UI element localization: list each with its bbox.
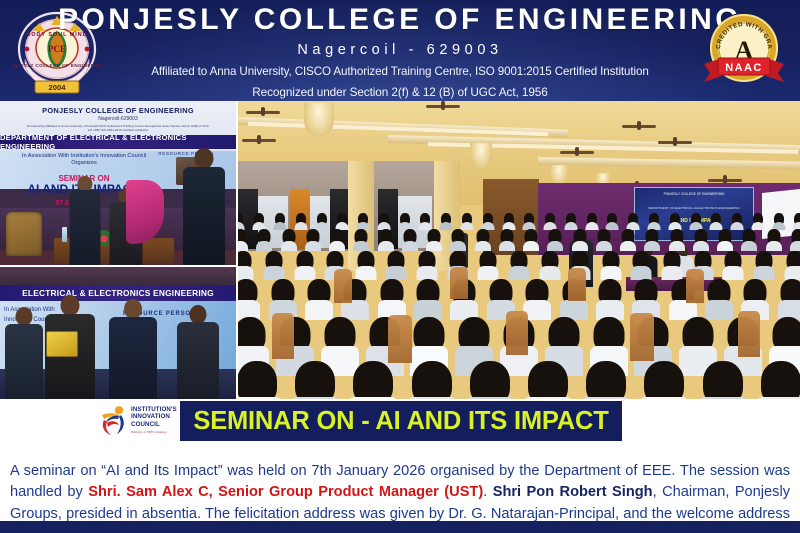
header-affiliation-line: Affiliated to Anna University, CISCO Aut… [151,65,648,78]
stage-banner-fineprint: Permanently Affiliated to Anna Universit… [26,124,210,132]
person-staff-left [4,303,44,399]
iic-ministry-line: (Ministry of HRD Initiative) [131,429,177,436]
photo-auditorium-audience: PONJESLY COLLEGE OF ENGINEERING DEPARTME… [238,101,800,399]
svg-text:NAAC: NAAC [725,62,762,74]
person-resource-speaker [108,297,158,399]
chandelier [550,165,568,185]
poster-header: PCE BODY SOUL MIND PONJESLY COLLEGE OF E… [0,0,800,101]
header-text-block: PONJESLY COLLEGE OF ENGINEERING Nagercoi… [108,0,692,101]
person-in-suit [68,174,102,266]
iic-line-3: COUNCIL [131,421,177,428]
audience-seating [238,213,800,399]
iic-logo-icon: INSTITUTION'S INNOVATION COUNCIL (Minist… [96,402,180,440]
seminar-title-text: SEMINAR ON - AI AND ITS IMPACT [193,407,608,436]
event-title-band: INSTITUTION'S INNOVATION COUNCIL (Minist… [0,399,800,443]
photo-collage: PONJESLY COLLEGE OF ENGINEERING Nagercoi… [0,101,800,399]
iic-mark-icon [99,405,129,436]
person-clapping [182,140,226,266]
event-report-poster: PCE BODY SOUL MIND PONJESLY COLLEGE OF E… [0,0,800,533]
stage-banner-college: PONJESLY COLLEGE OF ENGINEERING [0,106,236,115]
screen-line-2: DEPARTMENT OF ELECTRICAL & ELECTRONICS E… [635,206,753,210]
svg-text:PCE: PCE [48,44,66,54]
stage-banner-city: Nagercoil-629003 [0,116,236,122]
ceiling-fan [622,125,656,128]
header-recognition-line: Recognized under Section 2(f) & 12 (B) o… [252,85,547,99]
person-faculty-right [176,301,220,399]
header-city-line: Nagercoil - 629003 [297,42,502,58]
naac-accreditation-badge-icon: ACCREDITED WITH GRADE A NAAC [698,6,790,96]
ceiling-fan [242,139,276,142]
stage-banner-association: In Association With Institution's Innova… [14,153,154,167]
report-highlight-red: Shri. Sam Alex C, Senior Group Product M… [88,484,483,500]
photo-memento-felicitation: ELECTRICAL & ELECTRONICS ENGINEERING In … [0,267,236,399]
iic-line-2: INNOVATION [131,413,177,420]
iic-line-1: INSTITUTION'S [131,406,177,413]
photo-shawl-honouring-on-stage: PONJESLY COLLEGE OF ENGINEERING Nagercoi… [0,101,236,266]
report-highlight-navy: Shri Pon Robert Singh [493,484,653,500]
chandelier [304,103,334,137]
seminar-title-banner: SEMINAR ON - AI AND ITS IMPACT [180,401,622,441]
ceiling-fan [560,151,594,154]
screen-line-1: PONJESLY COLLEGE OF ENGINEERING [635,192,753,196]
memento-plaque [46,331,78,357]
page-title: PONJESLY COLLEGE OF ENGINEERING [58,4,742,36]
svg-text:PONJESLY COLLEGE OF ENGINEERIN: PONJESLY COLLEGE OF ENGINEERING [13,63,101,68]
stage-chair [6,212,42,256]
ceiling-fan [658,141,692,144]
footer-bar [0,521,800,533]
ceiling-fan [426,105,460,108]
iic-logo-text: INSTITUTION'S INNOVATION COUNCIL (Minist… [131,406,177,437]
ceiling-fan [708,179,742,182]
ceiling-fan [246,111,280,114]
chandelier [470,143,492,169]
svg-text:2004: 2004 [49,83,67,92]
report-body: A seminar on “AI and Its Impact” was hel… [0,443,800,533]
